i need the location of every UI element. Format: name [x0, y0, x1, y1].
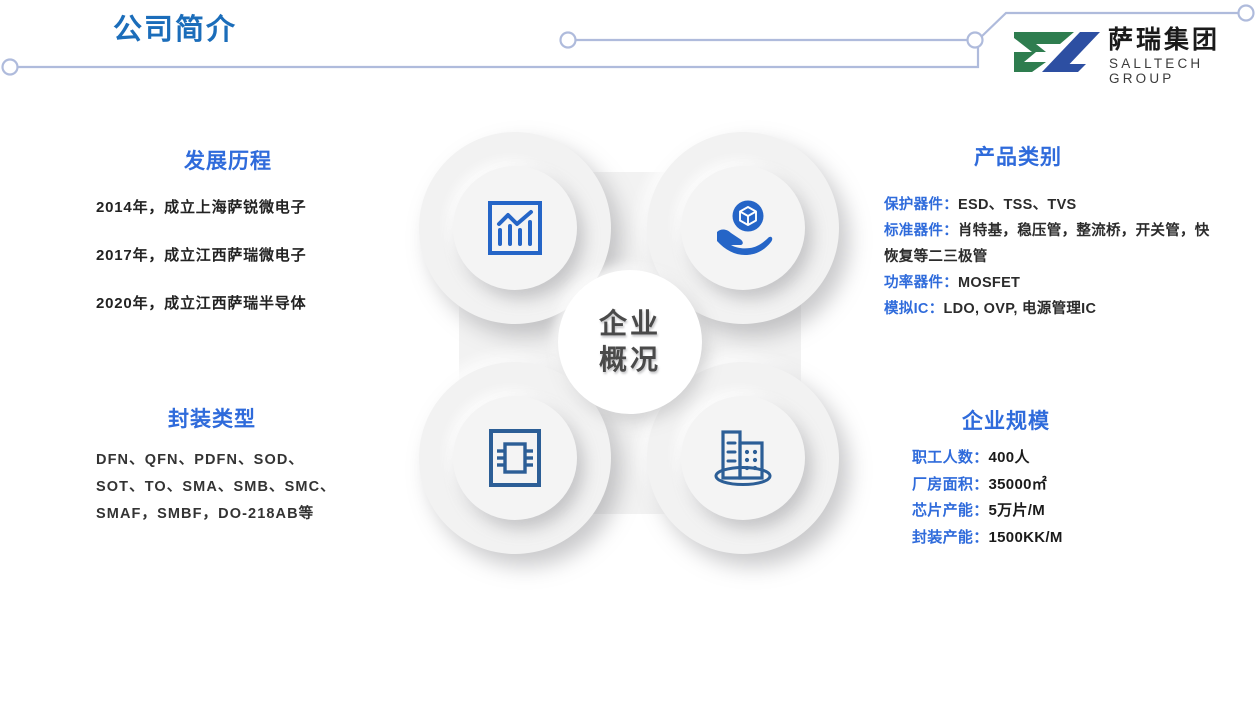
product-value: MOSFET — [958, 275, 1020, 291]
enterprise-scale-list: 职工人数：400人 厂房面积：35000㎡ 芯片产能：5万片/M 封装产能：15… — [912, 445, 1212, 551]
package-types-body: DFN、QFN、PDFN、SOD、SOT、TO、SMA、SMB、SMC、SMAF… — [96, 447, 346, 528]
chip-icon — [484, 427, 546, 489]
scale-value: 400人 — [989, 449, 1030, 466]
list-item: 2014年，成立上海萨锐微电子 — [96, 196, 416, 217]
company-logo: 萨瑞集团 SALLTECH GROUP — [1012, 25, 1248, 77]
product-label: 功率器件： — [884, 275, 958, 291]
product-row: 功率器件：MOSFET — [884, 270, 1214, 296]
section-title-scale: 企业规模 — [962, 405, 1050, 435]
hand-holding-box-icon — [711, 196, 775, 260]
logo-name-cn: 萨瑞集团 — [1108, 25, 1220, 55]
deco-node-mid — [561, 33, 576, 48]
product-row: 保护器件：ESD、TSS、TVS — [884, 192, 1214, 218]
growth-chart-icon — [484, 197, 546, 259]
scale-value: 5万片/M — [989, 502, 1046, 519]
product-label: 模拟IC： — [884, 301, 944, 317]
product-label: 标准器件： — [884, 223, 958, 239]
section-title-package: 封装类型 — [168, 403, 256, 433]
page-title: 公司简介 — [113, 10, 237, 50]
deco-node-left — [3, 60, 18, 75]
buildings-icon — [710, 426, 776, 490]
scale-row: 厂房面积：35000㎡ — [912, 472, 1212, 499]
scale-row: 职工人数：400人 — [912, 445, 1212, 472]
clover-knob-development[interactable] — [453, 166, 577, 290]
product-category-list: 保护器件：ESD、TSS、TVS 标准器件：肖特基，稳压管，整流桥，开关管，快恢… — [884, 192, 1214, 322]
product-value: ESD、TSS、TVS — [958, 197, 1077, 213]
salltech-logo-mark — [1012, 28, 1102, 74]
list-item: 2017年，成立江西萨瑞微电子 — [96, 244, 416, 265]
scale-label: 职工人数： — [912, 449, 989, 466]
section-title-development: 发展历程 — [184, 145, 272, 175]
scale-value: 1500KK/M — [989, 529, 1063, 546]
product-row: 模拟IC：LDO, OVP, 电源管理IC — [884, 296, 1214, 322]
product-label: 保护器件： — [884, 197, 958, 213]
list-item: 2020年，成立江西萨瑞半导体 — [96, 292, 416, 313]
slide-canvas: 公司简介 萨瑞集团 SALLTECH GROUP 发展历程 2014年，成立上海… — [0, 0, 1257, 704]
logo-name-en: SALLTECH GROUP — [1109, 56, 1248, 86]
clover-knob-package[interactable] — [453, 396, 577, 520]
clover-core: 企业 概况 — [558, 270, 702, 414]
product-value: LDO, OVP, 电源管理IC — [944, 301, 1097, 317]
section-title-products: 产品类别 — [974, 141, 1062, 171]
scale-row: 封装产能：1500KK/M — [912, 525, 1212, 552]
center-clover-graphic: 企业 概况 — [405, 118, 855, 568]
core-title-line1: 企业 — [599, 306, 661, 342]
development-list: 2014年，成立上海萨锐微电子 2017年，成立江西萨瑞微电子 2020年，成立… — [96, 196, 416, 340]
scale-label: 封装产能： — [912, 529, 989, 546]
clover-knob-products[interactable] — [681, 166, 805, 290]
scale-value: 35000㎡ — [989, 476, 1048, 493]
scale-label: 厂房面积： — [912, 476, 989, 493]
clover-knob-scale[interactable] — [681, 396, 805, 520]
product-row: 标准器件：肖特基，稳压管，整流桥，开关管，快恢复等二三极管 — [884, 218, 1214, 270]
core-title-line2: 概况 — [599, 342, 661, 378]
scale-label: 芯片产能： — [912, 502, 989, 519]
deco-node-junction — [968, 33, 983, 48]
scale-row: 芯片产能：5万片/M — [912, 498, 1212, 525]
deco-node-right — [1239, 6, 1254, 21]
